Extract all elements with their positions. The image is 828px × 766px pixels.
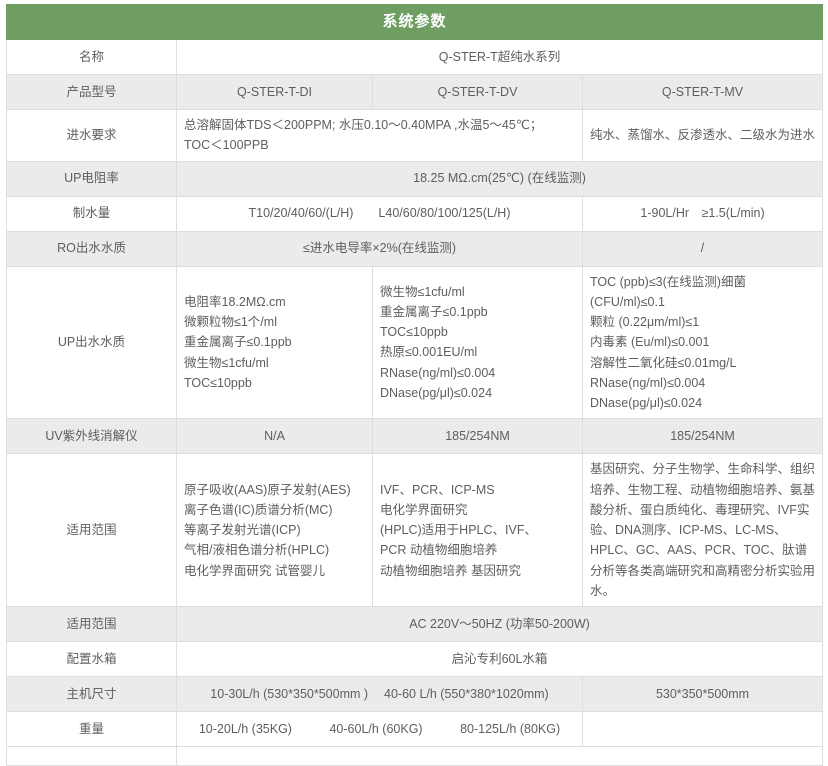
- system-parameters-table: 系统参数 名称 Q-STER-T超纯水系列 产品型号 Q-STER-T-DI Q…: [6, 4, 823, 766]
- cell-dimensions-merged: 10-30L/h (530*350*500mm ) 40-60 L/h (550…: [177, 677, 583, 712]
- row-up-resistivity: UP电阻率 18.25 MΩ.cm(25℃) (在线监测): [7, 161, 823, 196]
- cell-up-resistivity-value: 18.25 MΩ.cm(25℃) (在线监测): [177, 161, 823, 196]
- cell-up-quality-dv: 微生物≤1cfu/ml 重金属离子≤0.1ppb TOC≤10ppb 热原≤0.…: [373, 266, 583, 419]
- cell-model-dv: Q-STER-T-DV: [373, 75, 583, 110]
- row-label-name: 名称: [7, 40, 177, 75]
- cell-up-quality-di: 电阻率18.2MΩ.cm 微颗粒物≤1个/ml 重金属离子≤0.1ppb 微生物…: [177, 266, 373, 419]
- row-label-up-quality: UP出水水质: [7, 266, 177, 419]
- row-tank: 配置水箱 启沁专利60L水箱: [7, 642, 823, 677]
- cell-applications-mv: 基因研究、分子生物学、生命科学、组织培养、生物工程、动植物细胞培养、氨基酸分析、…: [583, 454, 823, 607]
- cell-water-output-merged: T10/20/40/60/(L/H) L40/60/80/100/125(L/H…: [177, 196, 583, 231]
- cell-dimensions-mv: 530*350*500mm: [583, 677, 823, 712]
- cell-ro-quality-mv: /: [583, 231, 823, 266]
- row-water-output: 制水量 T10/20/40/60/(L/H) L40/60/80/100/125…: [7, 196, 823, 231]
- row-partial-cut-off: [7, 747, 823, 766]
- cell-weight-mv: [583, 712, 823, 747]
- cell-inlet-merged: 总溶解固体TDS＜200PPM; 水压0.10～0.40MPA ,水温5～45℃…: [177, 110, 583, 162]
- cell-power-value: AC 220V～50HZ (功率50-200W): [177, 607, 823, 642]
- cell-model-di: Q-STER-T-DI: [177, 75, 373, 110]
- row-ro-quality: RO出水水质 ≤进水电导率×2%(在线监测) /: [7, 231, 823, 266]
- row-dimensions: 主机尺寸 10-30L/h (530*350*500mm ) 40-60 L/h…: [7, 677, 823, 712]
- spec-table-container: 系统参数 名称 Q-STER-T超纯水系列 产品型号 Q-STER-T-DI Q…: [0, 0, 828, 576]
- cell-weight-merged: 10-20L/h (35KG) 40-60L/h (60KG) 80-125L/…: [177, 712, 583, 747]
- row-label-model: 产品型号: [7, 75, 177, 110]
- cell-uv-di: N/A: [177, 419, 373, 454]
- row-weight: 重量 10-20L/h (35KG) 40-60L/h (60KG) 80-12…: [7, 712, 823, 747]
- row-label-weight: 重量: [7, 712, 177, 747]
- cell-tank-value: 启沁专利60L水箱: [177, 642, 823, 677]
- row-name: 名称 Q-STER-T超纯水系列: [7, 40, 823, 75]
- row-up-quality: UP出水水质 电阻率18.2MΩ.cm 微颗粒物≤1个/ml 重金属离子≤0.1…: [7, 266, 823, 419]
- row-label-applications: 适用范围: [7, 454, 177, 607]
- cell-name-value: Q-STER-T超纯水系列: [177, 40, 823, 75]
- row-inlet-requirement: 进水要求 总溶解固体TDS＜200PPM; 水压0.10～0.40MPA ,水温…: [7, 110, 823, 162]
- cell-water-output-mv: 1-90L/Hr ≥1.5(L/min): [583, 196, 823, 231]
- row-model: 产品型号 Q-STER-T-DI Q-STER-T-DV Q-STER-T-MV: [7, 75, 823, 110]
- cell-applications-di: 原子吸收(AAS)原子发射(AES) 离子色谱(IC)质谱分析(MC) 等离子发…: [177, 454, 373, 607]
- row-power: 适用范围 AC 220V～50HZ (功率50-200W): [7, 607, 823, 642]
- row-label-power: 适用范围: [7, 607, 177, 642]
- row-label-ro-quality: RO出水水质: [7, 231, 177, 266]
- row-label-uv: UV紫外线消解仪: [7, 419, 177, 454]
- cut-cell-label: [7, 747, 177, 766]
- cell-inlet-mv: 纯水、蒸馏水、反渗透水、二级水为进水: [583, 110, 823, 162]
- cell-uv-mv: 185/254NM: [583, 419, 823, 454]
- row-label-dimensions: 主机尺寸: [7, 677, 177, 712]
- row-label-inlet: 进水要求: [7, 110, 177, 162]
- cell-uv-dv: 185/254NM: [373, 419, 583, 454]
- cell-ro-quality-merged: ≤进水电导率×2%(在线监测): [177, 231, 583, 266]
- cell-up-quality-mv: TOC (ppb)≤3(在线监测)细菌 (CFU/ml)≤0.1 颗粒 (0.2…: [583, 266, 823, 419]
- table-title-row: 系统参数: [7, 5, 823, 40]
- row-label-tank: 配置水箱: [7, 642, 177, 677]
- row-uv-unit: UV紫外线消解仪 N/A 185/254NM 185/254NM: [7, 419, 823, 454]
- cut-cell-value: [177, 747, 823, 766]
- table-title: 系统参数: [7, 5, 823, 40]
- cell-model-mv: Q-STER-T-MV: [583, 75, 823, 110]
- cell-applications-dv: IVF、PCR、ICP-MS 电化学界面研究 (HPLC)适用于HPLC、IVF…: [373, 454, 583, 607]
- row-label-water-output: 制水量: [7, 196, 177, 231]
- row-label-up-resistivity: UP电阻率: [7, 161, 177, 196]
- row-applications: 适用范围 原子吸收(AAS)原子发射(AES) 离子色谱(IC)质谱分析(MC)…: [7, 454, 823, 607]
